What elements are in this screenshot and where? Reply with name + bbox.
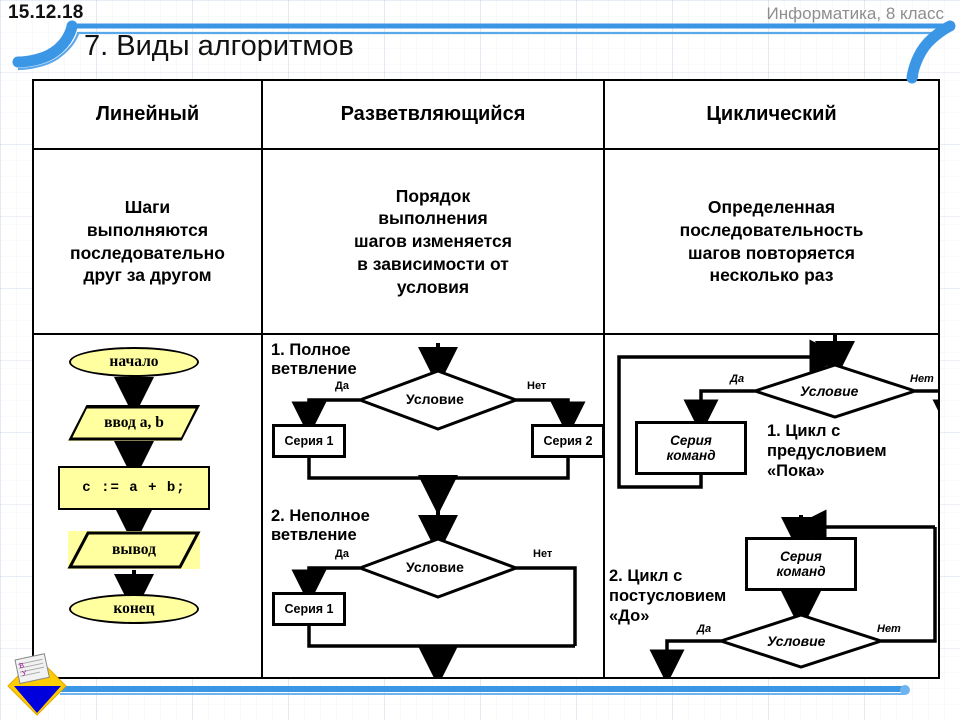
column-branching: Разветвляющийся Порядок выполнения шагов…: [263, 81, 603, 677]
column-description-linear: Шаги выполняются последовательно друг за…: [34, 150, 261, 333]
flow-node-output: вывод: [68, 531, 200, 569]
precondition-yes-label: Да: [730, 373, 744, 385]
column-description-branching: Порядок выполнения шагов изменяется в за…: [263, 150, 603, 333]
column-description-cyclic: Определенная последовательность шагов по…: [605, 150, 938, 333]
full-branching-yes-label: Да: [335, 380, 349, 392]
flow-node-output-variable: с: [135, 571, 142, 589]
column-linear: Линейный Шаги выполняются последовательн…: [34, 81, 261, 677]
footer-rule: [0, 684, 960, 698]
linear-flowchart: начало ввод a, b c := a + b; вывод: [34, 335, 261, 677]
branching-diagrams: 1. Полное ветвление Условие Да Нет Серия…: [263, 335, 603, 677]
flow-node-end: конец: [69, 594, 199, 624]
date-label: 15.12.18: [8, 2, 84, 24]
flow-node-start: начало: [69, 347, 199, 377]
column-header-cyclic: Циклический: [605, 81, 938, 148]
full-branching-connectors: [263, 335, 603, 505]
subject-label: Информатика, 8 класс: [767, 4, 944, 24]
postcondition-body-box: Серия команд: [745, 537, 857, 591]
full-branching-condition: Условие: [406, 391, 464, 407]
column-header-linear: Линейный: [34, 81, 261, 148]
partial-branching-condition: Условие: [406, 559, 464, 575]
full-branching-no-box: Серия 2: [531, 424, 603, 458]
partial-branching-yes-label: Да: [335, 548, 349, 560]
cyclic-diagrams: Условие Да Нет Серия команд 1. Цикл с пр…: [605, 335, 938, 677]
postcondition-condition: Условие: [767, 633, 825, 649]
flow-node-process: c := a + b;: [58, 466, 210, 510]
partial-branching-yes-box: Серия 1: [272, 592, 346, 626]
algorithm-types-table: Линейный Шаги выполняются последовательн…: [32, 79, 940, 679]
column-header-branching: Разветвляющийся: [263, 81, 603, 148]
column-cyclic: Циклический Определенная последовательно…: [605, 81, 938, 677]
precondition-no-label: Нет: [910, 373, 934, 385]
notebook-icon: В У: [6, 655, 68, 717]
postcondition-note: 2. Цикл с постусловием «До»: [609, 567, 726, 626]
precondition-body-box: Серия команд: [635, 421, 747, 475]
flow-node-input: ввод a, b: [68, 405, 200, 441]
postcondition-no-label: Нет: [877, 623, 901, 635]
page-title: 7. Виды алгоритмов: [84, 30, 354, 63]
full-branching-yes-box: Серия 1: [272, 424, 346, 458]
partial-branching-no-label: Нет: [533, 548, 552, 560]
partial-branching-connectors: [263, 503, 603, 677]
full-branching-no-label: Нет: [527, 380, 546, 392]
precondition-note: 1. Цикл с предусловием «Пока»: [767, 422, 887, 481]
precondition-condition: Условие: [800, 383, 858, 399]
